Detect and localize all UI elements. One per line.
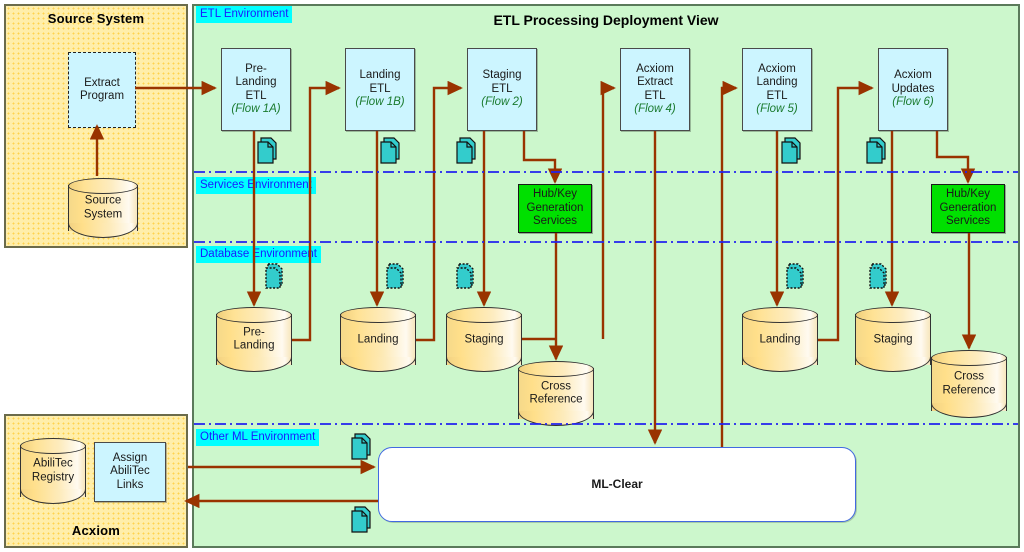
env-chip-etl-environment: ETL Environment [196,6,292,23]
abilitec-registry-label: AbiliTec Registry [20,458,86,485]
page-title: ETL Processing Deployment View [194,12,1018,28]
extract-program-line2: Program [80,90,124,104]
pre-landing-db-label: Pre- Landing [216,326,292,353]
extract-program-line1: Extract [84,77,120,91]
ml-clear-label: ML-Clear [591,478,642,492]
acxiom-landing-db-cylinder[interactable]: Landing [742,307,818,372]
assign-abilitec-links-box[interactable]: Assign AbiliTec Links [94,442,166,502]
etl-line1: Acxiom [894,69,932,83]
env-chip-services-environment: Services Environment [196,177,316,194]
etl-line3: ETL [766,90,787,104]
cylinder-bottom [518,411,594,426]
artifact-pre-landing-file-icon [256,136,282,166]
etl-flow-label: (Flow 6) [892,96,934,110]
artifact-acxiom-landing-file-icon [780,136,806,166]
landing-etl-box[interactable]: Landing ETL (Flow 1B) [345,48,415,131]
artifact-mlclear-in-icon [350,432,376,462]
cross-reference-db-right-cylinder[interactable]: Cross Reference [931,350,1007,418]
acxiom-updates-etl-box[interactable]: Acxiom Updates (Flow 6) [878,48,948,131]
artifact-staging-file-icon [455,136,481,166]
pre-landing-db-cylinder[interactable]: Pre- Landing [216,307,292,372]
extract-program-box[interactable]: Extract Program [68,52,136,128]
service-line2: Generation [527,202,584,216]
cylinder-bottom [340,357,416,372]
landing-db-label: Landing [340,333,416,347]
etl-flow-label: (Flow 1B) [355,96,404,110]
cylinder-bottom [446,357,522,372]
hub-key-generation-services-right-box[interactable]: Hub/Key Generation Services [931,184,1005,233]
cylinder-top [340,307,416,323]
cylinder-top [855,307,931,323]
artifact-staging-db-icon [455,262,481,292]
etl-line2: Landing [757,76,798,90]
env-chip-other-ml-environment: Other ML Environment [196,429,319,446]
service-line2: Generation [940,202,997,216]
staging-db-cylinder[interactable]: Staging [446,307,522,372]
cross-reference-left-label: Cross Reference [518,380,594,407]
acxiom-extract-etl-box[interactable]: Acxiom Extract ETL (Flow 4) [620,48,690,131]
cylinder-bottom [68,223,138,238]
assign-links-line1: Assign [113,452,148,466]
cross-reference-db-left-cylinder[interactable]: Cross Reference [518,361,594,426]
cylinder-top [446,307,522,323]
etl-line2: Updates [892,83,935,97]
staging-etl-box[interactable]: Staging ETL (Flow 2) [467,48,537,131]
cylinder-top [216,307,292,323]
etl-line2: Landing [236,76,277,90]
etl-line1: Acxiom [758,63,796,77]
cylinder-bottom [216,357,292,372]
artifact-mlclear-out-icon [350,505,376,535]
artifact-acxiom-updates-file-icon [865,136,891,166]
etl-flow-label: (Flow 2) [481,96,523,110]
staging-db-label: Staging [446,333,522,347]
assign-links-line3: Links [117,479,144,493]
env-chip-database-environment: Database Environment [196,246,321,263]
service-line1: Hub/Key [946,188,990,202]
panel-source-system: Source System Extract Program Source Sys… [4,4,188,248]
service-line1: Hub/Key [533,188,577,202]
cylinder-bottom [742,357,818,372]
etl-line1: Landing [360,69,401,83]
etl-line1: Pre- [245,63,267,77]
cross-reference-right-label: Cross Reference [931,371,1007,398]
panel-acxiom-title: Acxiom [6,523,186,538]
source-system-cylinder-label: Source System [68,195,138,222]
artifact-pre-landing-db-icon [264,262,290,292]
etl-flow-label: (Flow 5) [756,103,798,117]
cylinder-bottom [931,403,1007,418]
acxiom-staging-db-cylinder[interactable]: Staging [855,307,931,372]
diagram-canvas: Source System Extract Program Source Sys… [0,0,1024,552]
etl-line1: Staging [482,69,521,83]
cylinder-bottom [855,357,931,372]
artifact-acxiom-landing-db-icon [785,262,811,292]
acxiom-staging-db-label: Staging [855,333,931,347]
abilitec-registry-cylinder[interactable]: AbiliTec Registry [20,438,86,504]
service-line3: Services [533,215,577,229]
acxiom-landing-db-label: Landing [742,333,818,347]
etl-flow-label: (Flow 4) [634,103,676,117]
cylinder-top [20,438,86,454]
etl-line2: ETL [369,83,390,97]
landing-db-cylinder[interactable]: Landing [340,307,416,372]
pre-landing-etl-box[interactable]: Pre- Landing ETL (Flow 1A) [221,48,291,131]
etl-line3: ETL [245,90,266,104]
ml-clear-box[interactable]: ML-Clear [378,447,856,522]
assign-links-line2: AbiliTec [110,465,150,479]
panel-source-system-title: Source System [6,11,186,26]
cylinder-top [742,307,818,323]
panel-acxiom: Acxiom AbiliTec Registry Assign AbiliTec… [4,414,188,548]
acxiom-landing-etl-box[interactable]: Acxiom Landing ETL (Flow 5) [742,48,812,131]
etl-line2: ETL [491,83,512,97]
source-system-cylinder[interactable]: Source System [68,178,138,238]
etl-line1: Acxiom [636,63,674,77]
cylinder-bottom [20,489,86,504]
etl-flow-label: (Flow 1A) [231,103,280,117]
etl-line2: Extract [637,76,673,90]
artifact-landing-file-icon [379,136,405,166]
etl-line3: ETL [644,90,665,104]
cylinder-top [518,361,594,377]
cylinder-top [931,350,1007,366]
service-line3: Services [946,215,990,229]
artifact-landing-db-icon [385,262,411,292]
artifact-acxiom-staging-db-icon [868,262,894,292]
cylinder-top [68,178,138,194]
hub-key-generation-services-left-box[interactable]: Hub/Key Generation Services [518,184,592,233]
